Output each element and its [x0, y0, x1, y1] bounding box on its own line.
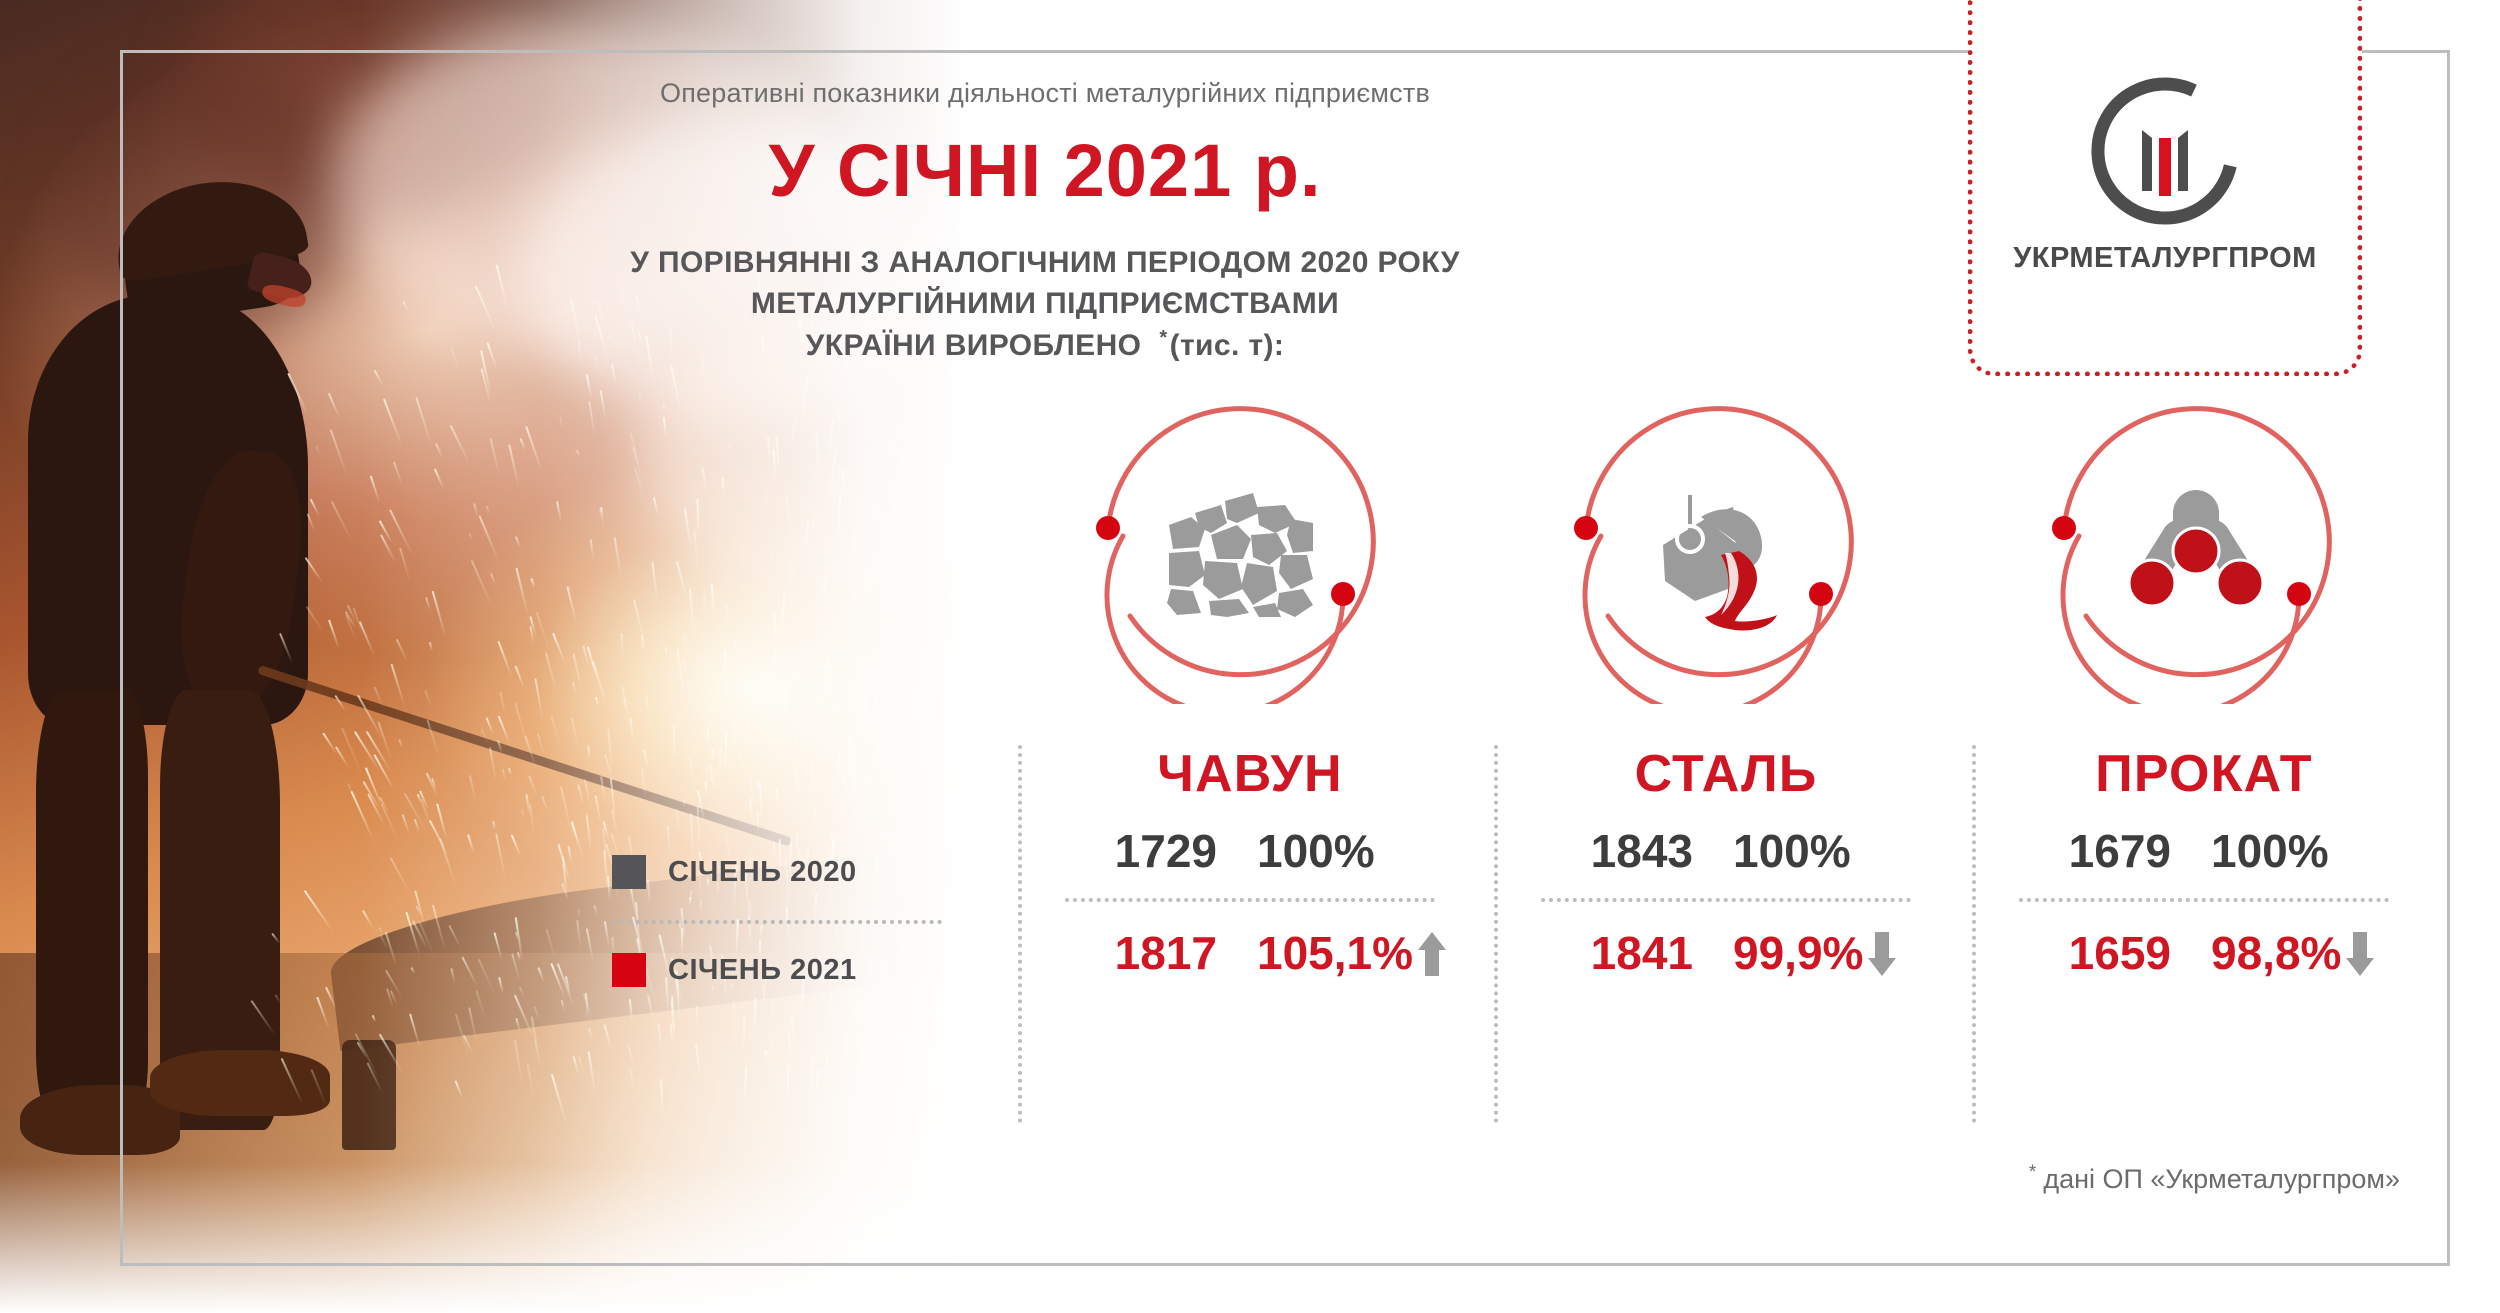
current-percent: 99,9% [1733, 927, 1863, 979]
subtitle-line-1: У ПОРІВНЯННІ З АНАЛОГІЧНИМ ПЕРІОДОМ 2020… [630, 246, 1460, 279]
row-divider [1065, 898, 1435, 902]
current-percent: 98,8% [2211, 927, 2341, 979]
previous-percent: 100% [2189, 824, 2419, 878]
logo-name: УКРМЕТАЛУРГПРОМ [1968, 242, 2362, 275]
logo-box: УКРМЕТАЛУРГПРОМ [1968, 0, 2362, 376]
product-icon-circles [0, 404, 2500, 704]
infographic-root: Оперативні показники діяльності металург… [0, 0, 2500, 1313]
previous-percent: 100% [1235, 824, 1465, 878]
trend-down-arrow-icon [2345, 931, 2375, 977]
legend: СІЧЕНЬ 2020 СІЧЕНЬ 2021 [612, 846, 942, 996]
eyebrow-label: Оперативні показники діяльності металург… [660, 78, 1430, 109]
footnote: *дані ОП «Укрметалургпром» [1500, 1162, 2400, 1195]
row-current-year: 1841 99,9% [1496, 926, 1956, 980]
row-previous-year: 1729 100% [1020, 824, 1480, 878]
row-current-year: 1817 105,1% [1020, 926, 1480, 980]
previous-value: 1679 [1989, 824, 2189, 878]
current-percent-wrap: 99,9% [1711, 926, 1941, 980]
column-stal: СТАЛЬ 1843 100% 1841 99,9% [1496, 742, 1956, 980]
column-title: ПРОКАТ [1974, 742, 2434, 800]
current-percent-wrap: 105,1% [1235, 926, 1465, 980]
legend-swatch-red [612, 953, 646, 987]
column-chavun: ЧАВУН 1729 100% 1817 105,1% [1020, 742, 1480, 980]
row-current-year: 1659 98,8% [1974, 926, 2434, 980]
trend-down-arrow-icon [1867, 931, 1897, 977]
circle-chavun [1090, 404, 1390, 704]
legend-label: СІЧЕНЬ 2021 [668, 954, 857, 987]
column-title: ЧАВУН [1020, 742, 1480, 800]
ladle-pouring-molten-steel-icon [1643, 489, 1793, 619]
legend-label: СІЧЕНЬ 2020 [668, 856, 857, 889]
legend-divider [612, 920, 942, 924]
subtitle-line-2: МЕТАЛУРГІЙНИМИ ПІДПРИЄМСТВАМИ [751, 287, 1339, 320]
rolled-steel-pipes-icon [2121, 489, 2271, 619]
subtitle-line-3: УКРАЇНИ ВИРОБЛЕНО [806, 329, 1142, 362]
previous-percent: 100% [1711, 824, 1941, 878]
footnote-text: дані ОП «Укрметалургпром» [2043, 1164, 2400, 1194]
current-percent: 105,1% [1257, 927, 1413, 979]
footnote-star: * [2029, 1162, 2036, 1183]
subtitle-unit: (тис. т): [1170, 329, 1285, 362]
current-percent-wrap: 98,8% [2189, 926, 2419, 980]
legend-swatch-gray [612, 855, 646, 889]
row-divider [2019, 898, 2389, 902]
trend-up-arrow-icon [1417, 931, 1447, 977]
subtitle-footnote-star: * [1159, 327, 1167, 349]
page-title-label: У СІЧНІ 2021 р. [768, 128, 1321, 213]
row-divider [1541, 898, 1911, 902]
circle-prokat [2046, 404, 2346, 704]
circle-stal [1568, 404, 1868, 704]
column-title: СТАЛЬ [1496, 742, 1956, 800]
legend-item-2021: СІЧЕНЬ 2021 [612, 944, 942, 996]
current-value: 1659 [1989, 926, 2189, 980]
column-prokat: ПРОКАТ 1679 100% 1659 98,8% [1974, 742, 2434, 980]
ukrmetallurgprom-logo-icon [2090, 76, 2240, 226]
row-previous-year: 1843 100% [1496, 824, 1956, 878]
data-columns: ЧАВУН 1729 100% 1817 105,1% СТАЛЬ 1843 1… [0, 742, 2500, 1142]
current-value: 1841 [1511, 926, 1711, 980]
ore-rock-texture-icon [1165, 489, 1315, 619]
current-value: 1817 [1035, 926, 1235, 980]
previous-value: 1729 [1035, 824, 1235, 878]
photo-fade-bottom [0, 1163, 1000, 1313]
legend-item-2020: СІЧЕНЬ 2020 [612, 846, 942, 898]
row-previous-year: 1679 100% [1974, 824, 2434, 878]
subtitle-inner: У ПОРІВНЯННІ З АНАЛОГІЧНИМ ПЕРІОДОМ 2020… [630, 243, 1460, 366]
previous-value: 1843 [1511, 824, 1711, 878]
